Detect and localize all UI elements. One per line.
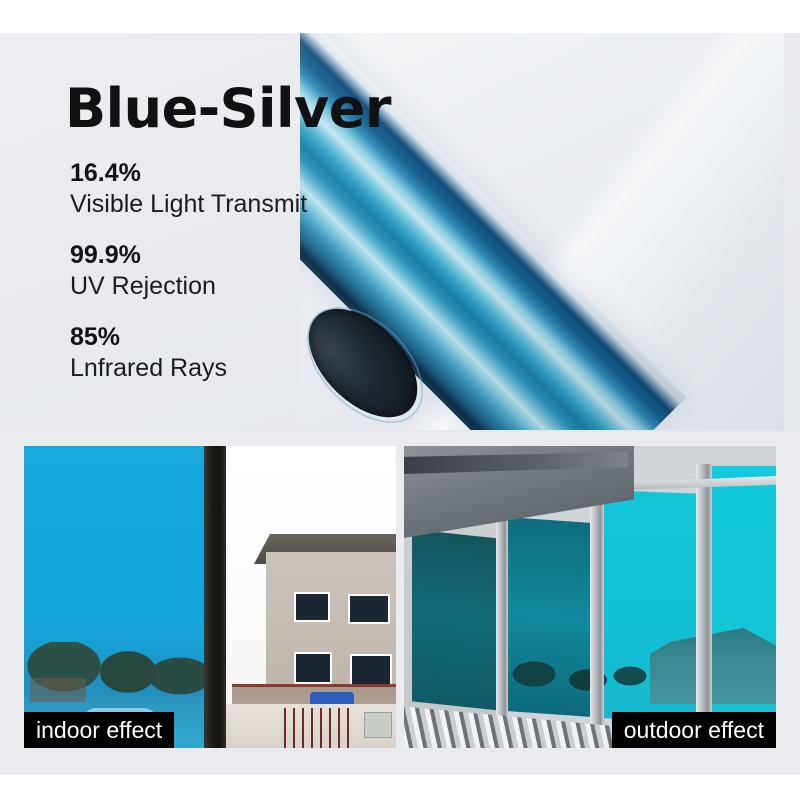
- house-window: [294, 592, 330, 622]
- outdoor-glass-panel: [412, 529, 500, 710]
- spec-item-uv-rejection: 99.9% UV Rejection: [70, 240, 395, 301]
- spec-item-visible-light-transmit: 16.4% Visible Light Transmit: [70, 158, 395, 219]
- house-window: [348, 594, 390, 624]
- spec-value: 16.4%: [70, 158, 395, 189]
- spec-list: 16.4% Visible Light Transmit 99.9% UV Re…: [70, 158, 395, 383]
- indoor-effect-caption-text: indoor effect: [36, 719, 162, 742]
- product-copy: Blue-Silver 16.4% Visible Light Transmit…: [65, 81, 395, 404]
- spec-label: Visible Light Transmit: [70, 189, 395, 220]
- curtain-wall-mullion: [496, 511, 508, 720]
- spec-label: UV Rejection: [70, 271, 395, 302]
- hero-section: Blue-Silver 16.4% Visible Light Transmit…: [0, 33, 800, 433]
- product-image-page: Blue-Silver 16.4% Visible Light Transmit…: [0, 0, 800, 800]
- curtain-wall-mullion: [696, 464, 712, 730]
- effect-gallery: indoor effect outdoor effect: [0, 446, 800, 748]
- house-window: [350, 654, 392, 686]
- utility-box: [364, 712, 392, 738]
- page-title: Blue-Silver: [65, 81, 395, 136]
- glass-reflection-trees: [504, 658, 654, 716]
- house-window: [294, 652, 332, 684]
- spec-value: 99.9%: [70, 240, 395, 271]
- spec-item-infrared-rays: 85% Lnfrared Rays: [70, 322, 395, 383]
- outdoor-effect-caption-text: outdoor effect: [624, 719, 764, 742]
- indoor-clear-pane: [226, 446, 396, 748]
- indoor-effect-photo: indoor effect: [24, 446, 396, 748]
- outdoor-effect-caption: outdoor effect: [612, 712, 776, 748]
- curtain-wall-mullion: [590, 490, 604, 727]
- spec-value: 85%: [70, 322, 395, 353]
- outdoor-effect-photo: outdoor effect: [404, 446, 776, 748]
- indoor-effect-caption: indoor effect: [24, 712, 174, 748]
- spec-label: Lnfrared Rays: [70, 353, 395, 384]
- indoor-tinted-roof: [30, 678, 86, 702]
- metal-fence: [284, 708, 354, 748]
- indoor-window-frame: [204, 446, 226, 748]
